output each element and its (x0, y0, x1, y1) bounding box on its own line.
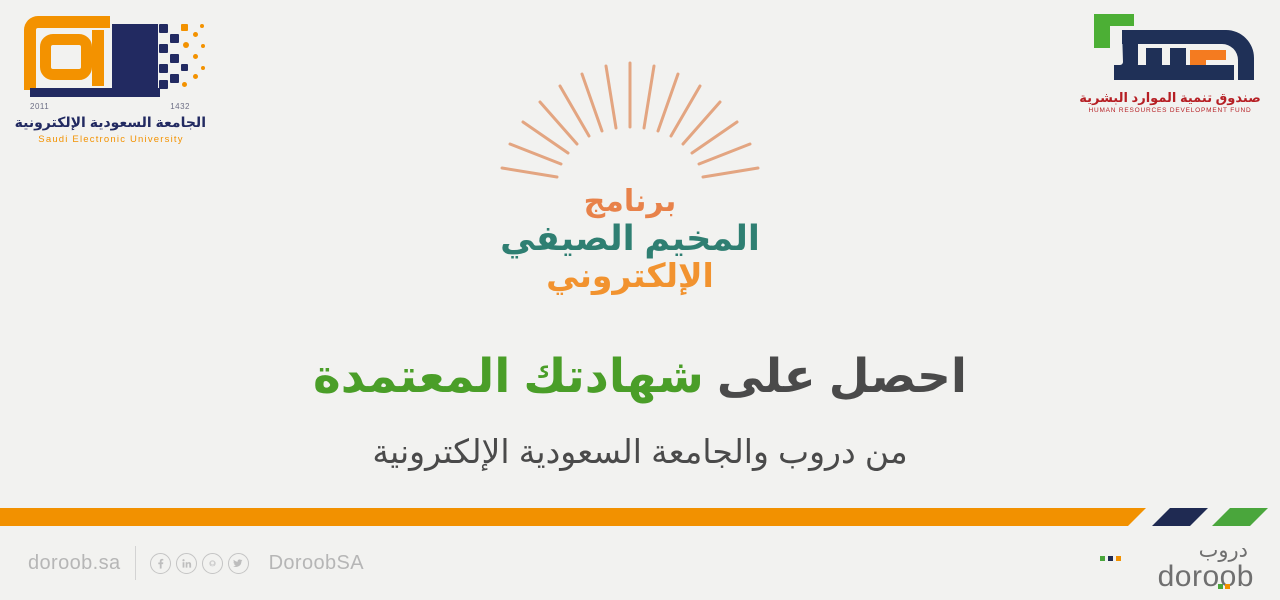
divider-chevron-navy (1152, 508, 1208, 526)
hrdf-logo: صندوق تنمية الموارد البشرية HUMAN RESOUR… (1070, 10, 1270, 120)
logo-foot-right (136, 90, 143, 97)
program-logo-line-1: برنامج (430, 185, 830, 219)
linkedin-icon[interactable] (176, 553, 197, 574)
doroob-accent-square-green-2 (1218, 584, 1223, 589)
pixel-square (159, 80, 168, 89)
program-logo-text: برنامج المخيم الصيفي الإلكتروني (430, 185, 830, 295)
navy-block-shape (112, 24, 158, 90)
hrdf-english-name: HUMAN RESOURCES DEVELOPMENT FUND (1070, 107, 1270, 114)
headline-highlight: شهادتك المعتمدة (313, 349, 704, 402)
logo-foot-mid (76, 90, 83, 97)
saudi-electronic-university-logo: 2011 1432 الجامعة السعودية الإلكترونية S… (16, 10, 206, 150)
program-logo-line-3: الإلكتروني (430, 258, 830, 295)
instagram-icon[interactable] (202, 553, 223, 574)
facebook-icon[interactable] (150, 553, 171, 574)
program-logo-line-2: المخيم الصيفي (430, 219, 830, 258)
footer-contact-group: doroob.sa (28, 546, 364, 580)
pixel-square (159, 64, 168, 73)
seu-year-hijri: 1432 (170, 102, 190, 111)
divider-bar (0, 506, 1280, 528)
hadaf-svg (1070, 10, 1270, 88)
pixel-square (170, 34, 179, 43)
seu-at-symbol-icon (16, 10, 206, 102)
pixel-square (181, 64, 188, 71)
logo-foot-left (40, 90, 47, 97)
doroob-logo: دروب doroob (1098, 538, 1258, 596)
seu-founding-years: 2011 1432 (30, 102, 190, 111)
at-inner-shape (40, 34, 92, 80)
pixel-square (170, 54, 179, 63)
seu-arabic-name: الجامعة السعودية الإلكترونية (16, 114, 206, 131)
pixel-dot (201, 44, 205, 48)
pixel-dot (201, 66, 205, 70)
instagram-glyph (207, 558, 218, 569)
seu-year-gregorian: 2011 (30, 102, 49, 111)
twitter-bird-glyph (232, 557, 244, 569)
doroob-english-wordmark: doroob (1158, 560, 1254, 594)
linkedin-glyph (181, 558, 192, 569)
headline: احصل على شهادتك المعتمدة (0, 348, 1280, 404)
pixel-dot (193, 74, 198, 79)
hrdf-arabic-name: صندوق تنمية الموارد البشرية (1070, 90, 1270, 106)
subheadline: من دروب والجامعة السعودية الإلكترونية (0, 432, 1280, 471)
doroob-accent-square-orange-2 (1225, 584, 1230, 589)
pixel-dot (182, 82, 187, 87)
hadaf-wordmark-icon (1070, 10, 1270, 88)
promo-banner: 2011 1432 الجامعة السعودية الإلكترونية S… (0, 0, 1280, 600)
pixel-dot (193, 54, 198, 59)
social-handle: DoroobSA (269, 552, 364, 575)
divider-chevron-green (1212, 508, 1268, 526)
pixel-square (159, 44, 168, 53)
divider-bar-orange (0, 508, 1146, 526)
pixel-dot (200, 24, 204, 28)
facebook-glyph (155, 558, 166, 569)
pixel-square (170, 74, 179, 83)
footer-divider (135, 546, 136, 580)
pixel-dot (193, 32, 198, 37)
pixel-dot (183, 42, 189, 48)
headline-lead: احصل على (717, 349, 967, 402)
summer-camp-program-logo: برنامج المخيم الصيفي الإلكتروني (430, 45, 830, 320)
footer: doroob.sa (0, 528, 1280, 600)
seu-english-name: Saudi Electronic University (16, 134, 206, 145)
at-tail-shape (92, 30, 104, 86)
twitter-icon[interactable] (228, 553, 249, 574)
doroob-accent-square-green (1100, 556, 1105, 561)
pixel-square (159, 24, 168, 33)
website-url[interactable]: doroob.sa (28, 552, 121, 575)
doroob-accent-square-navy (1108, 556, 1113, 561)
doroob-accent-square-orange (1116, 556, 1121, 561)
pixel-square (181, 24, 188, 31)
social-links (150, 553, 249, 574)
